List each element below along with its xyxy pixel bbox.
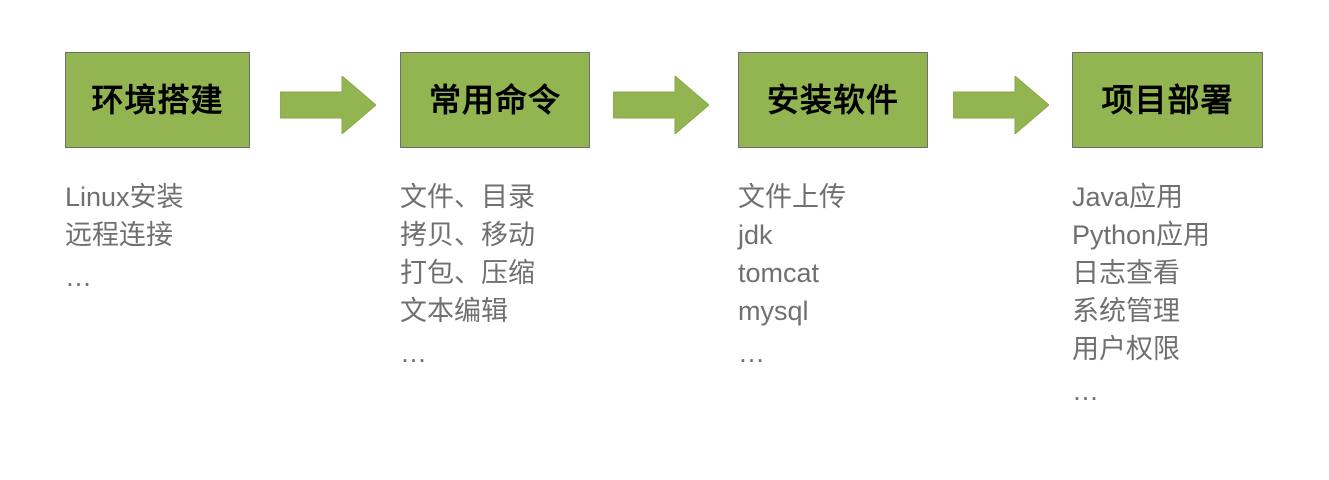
list-item: Python应用 bbox=[1072, 216, 1263, 254]
stage-list-2: 文件、目录 拷贝、移动 打包、压缩 文本编辑 … bbox=[400, 178, 590, 376]
stage-box-2[interactable]: 常用命令 bbox=[400, 52, 590, 148]
flow-stage-1: 环境搭建 Linux安装 远程连接 … bbox=[65, 52, 250, 300]
list-item-ellipsis: … bbox=[738, 330, 928, 376]
flow-stage-4: 项目部署 Java应用 Python应用 日志查看 系统管理 用户权限 … bbox=[1072, 52, 1263, 414]
list-item-ellipsis: … bbox=[65, 254, 250, 300]
list-item: 打包、压缩 bbox=[400, 254, 590, 292]
stage-title-2: 常用命令 bbox=[429, 84, 561, 116]
list-item: 远程连接 bbox=[65, 216, 250, 254]
stage-title-1: 环境搭建 bbox=[91, 84, 223, 116]
flow-stage-3: 安装软件 文件上传 jdk tomcat mysql … bbox=[738, 52, 928, 376]
list-item: jdk bbox=[738, 216, 928, 254]
stage-box-1[interactable]: 环境搭建 bbox=[65, 52, 250, 148]
flow-diagram: 环境搭建 Linux安装 远程连接 … 常用命令 文件、目录 拷贝、移动 打包、… bbox=[0, 0, 1329, 480]
list-item: 拷贝、移动 bbox=[400, 216, 590, 254]
stage-box-3[interactable]: 安装软件 bbox=[738, 52, 928, 148]
stage-list-1: Linux安装 远程连接 … bbox=[65, 178, 250, 300]
list-item: 文件上传 bbox=[738, 178, 928, 216]
list-item: 文件、目录 bbox=[400, 178, 590, 216]
list-item: 系统管理 bbox=[1072, 292, 1263, 330]
list-item: 用户权限 bbox=[1072, 330, 1263, 368]
stage-box-4[interactable]: 项目部署 bbox=[1072, 52, 1263, 148]
list-item: 文本编辑 bbox=[400, 292, 590, 330]
stage-list-3: 文件上传 jdk tomcat mysql … bbox=[738, 178, 928, 376]
list-item: tomcat bbox=[738, 254, 928, 292]
right-arrow-icon-1 bbox=[280, 76, 376, 134]
list-item: 日志查看 bbox=[1072, 254, 1263, 292]
list-item-ellipsis: … bbox=[400, 330, 590, 376]
stage-title-3: 安装软件 bbox=[767, 84, 899, 116]
list-item: mysql bbox=[738, 292, 928, 330]
right-arrow-icon-2 bbox=[613, 76, 709, 134]
list-item: Java应用 bbox=[1072, 178, 1263, 216]
stage-title-4: 项目部署 bbox=[1101, 84, 1233, 116]
list-item-ellipsis: … bbox=[1072, 368, 1263, 414]
right-arrow-icon-3 bbox=[953, 76, 1049, 134]
stage-list-4: Java应用 Python应用 日志查看 系统管理 用户权限 … bbox=[1072, 178, 1263, 414]
list-item: Linux安装 bbox=[65, 178, 250, 216]
flow-stage-2: 常用命令 文件、目录 拷贝、移动 打包、压缩 文本编辑 … bbox=[400, 52, 590, 376]
